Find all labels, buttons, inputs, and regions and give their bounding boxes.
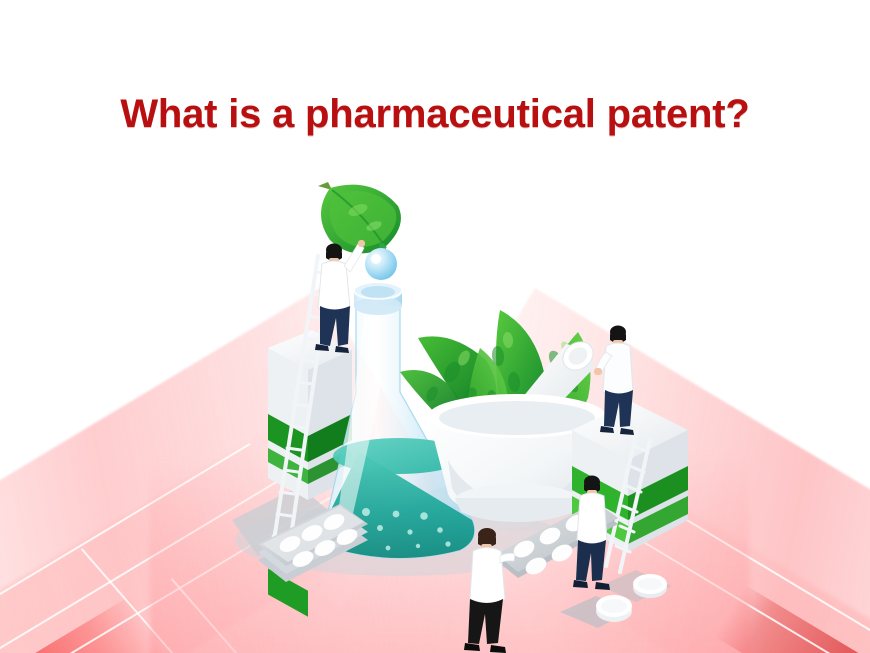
pharmaceutical-illustration <box>0 0 870 653</box>
slide-canvas: What is a pharmaceutical patent? <box>0 0 870 653</box>
